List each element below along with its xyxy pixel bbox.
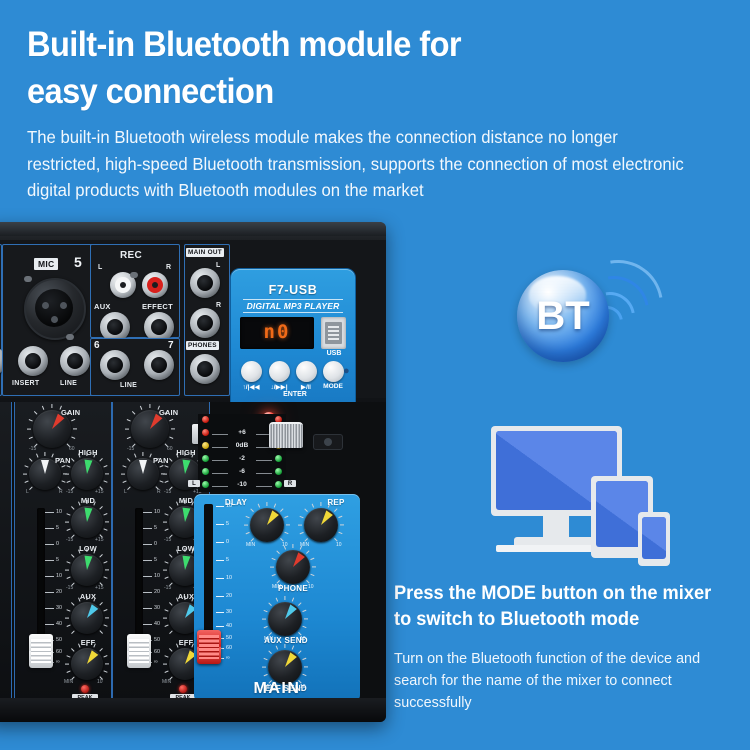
aux-min-label: MIN — [264, 636, 273, 642]
channel-5-number: 5 — [74, 254, 82, 270]
meter-scale-label: -6 — [198, 468, 286, 475]
aux-label: AUX — [94, 302, 111, 311]
rec-right-label: R — [166, 264, 171, 271]
gain-label: GAIN — [61, 408, 101, 417]
main-fader-cap[interactable] — [197, 630, 221, 664]
panel-screw — [130, 272, 138, 278]
high-eq-label: HIGH — [67, 448, 109, 457]
low-eq-knob[interactable] — [71, 554, 103, 586]
next-button-label: ↓/▶▶| — [264, 383, 294, 391]
eff-send-knob[interactable] — [71, 648, 103, 680]
peak-led — [81, 685, 89, 693]
channel-strip: GAIN -15 60 PAN L R HIGH -15 +15 — [14, 402, 112, 702]
line-label: LINE — [60, 380, 77, 387]
mid-eq-knob[interactable] — [71, 506, 103, 538]
pan-left-label: L — [124, 489, 127, 495]
line-7-number: 7 — [168, 340, 174, 351]
meter-row: -2 — [198, 455, 286, 466]
effect-label: EFFECT — [142, 302, 173, 311]
phone-min-label: MIN — [272, 584, 281, 590]
meter-led-right — [275, 455, 282, 462]
meter-right-label: R — [284, 480, 296, 487]
gain-min-label: -15 — [29, 446, 36, 452]
repeat-knob[interactable] — [304, 508, 338, 542]
line-67-label: LINE — [120, 382, 137, 389]
meter-led-left — [202, 416, 209, 423]
aux-send-label: AUX — [0, 618, 5, 627]
eq-max-label: +15 — [95, 585, 103, 591]
mixer-bottom-edge — [0, 698, 386, 722]
mp3-subtitle-label: DIGITAL MP3 PLAYER — [243, 299, 343, 313]
audio-mixer-product: 4 MIC 5 INSERT LINE REC L R — [0, 222, 386, 722]
mid-eq-label: MID — [0, 522, 5, 531]
eq-max-label: +15 — [95, 537, 103, 543]
page-title: Built-in Bluetooth module for easy conne… — [27, 22, 585, 116]
pan-right-label: R — [59, 489, 63, 495]
gain-label: GAIN — [159, 408, 199, 417]
main-out-left-jack[interactable] — [190, 268, 220, 298]
eff-send-label: EFF — [0, 666, 5, 675]
main-out-r-label: R — [216, 302, 221, 309]
phone-screen — [642, 517, 666, 559]
mic-label: MIC — [34, 258, 58, 270]
eff-send-label: EFF — [67, 638, 109, 647]
play-pause-button[interactable] — [296, 361, 317, 382]
mp3-player-module: F7-USB DIGITAL MP3 PLAYER n0 USB ↑/|◀◀ ↓… — [230, 268, 356, 410]
main-out-right-jack[interactable] — [190, 308, 220, 338]
mp3-display-value: n0 — [240, 321, 314, 343]
connector-panel: 4 MIC 5 INSERT LINE REC L R — [0, 240, 386, 398]
eq-min-label: -15 — [164, 585, 171, 591]
gain-min-label: -15 — [127, 446, 134, 452]
aux-send-label: AUX — [67, 592, 109, 601]
bluetooth-badge-label: BT — [517, 270, 609, 362]
insert-jack[interactable] — [18, 346, 48, 376]
eq-min-label: -15 — [164, 537, 171, 543]
promo-image: Built-in Bluetooth module for easy conne… — [0, 0, 750, 750]
meter-row: -10 — [198, 481, 286, 492]
prev-button[interactable] — [241, 361, 262, 382]
phones-label: PHONES — [186, 341, 219, 350]
send-min-label: MIN — [162, 679, 171, 685]
phone-max-label: 10 — [308, 584, 314, 590]
main-label: MAIN — [194, 680, 360, 698]
low-eq-label: LOW — [67, 544, 109, 553]
bluetooth-indicator-icon: ● — [343, 365, 350, 377]
meter-led-right — [275, 468, 282, 475]
eq-min-label: -15 — [164, 489, 171, 495]
high-eq-knob[interactable] — [71, 458, 103, 490]
xlr-mic-input[interactable] — [24, 278, 86, 340]
xlr-screw — [66, 334, 74, 340]
send-max-label: 10 — [97, 679, 103, 685]
channel-strip: HIGH MID LOW AUX EFF — [0, 402, 12, 702]
main-out-label: MAIN OUT — [186, 248, 224, 257]
meter-scale-label: -10 — [198, 481, 286, 488]
eq-max-label: +15 — [95, 489, 103, 495]
prev-button-label: ↑/|◀◀ — [236, 383, 266, 391]
delay-knob[interactable] — [250, 508, 284, 542]
low-eq-label: LOW — [0, 570, 5, 579]
title-line-2: easy connection — [27, 69, 585, 116]
mode-button[interactable] — [323, 361, 344, 382]
eq-min-label: -15 — [66, 489, 73, 495]
effects-master-panel: DLAY MIN 10 REP MIN 10 PHONE MIN 10 — [194, 494, 360, 702]
mode-button-label: MODE — [318, 383, 348, 390]
rec-label: REC — [120, 250, 142, 261]
enter-label: ENTER — [265, 391, 325, 398]
aux-send-knob[interactable] — [71, 602, 103, 634]
devices-illustration — [486, 424, 676, 576]
aux-send-master-knob[interactable] — [268, 602, 302, 636]
phones-jack[interactable] — [190, 354, 220, 384]
next-button[interactable] — [269, 361, 290, 382]
mid-eq-label: MID — [67, 496, 109, 505]
channel-5-line-jack[interactable] — [60, 346, 90, 376]
line-7-jack[interactable] — [144, 350, 174, 380]
rec-left-label: L — [98, 264, 103, 271]
play-pause-button-label: ▶/‖ — [291, 383, 321, 391]
mp3-display: n0 — [240, 317, 314, 349]
meter-left-label: L — [188, 480, 200, 487]
callout-body: Turn on the Bluetooth function of the de… — [394, 648, 725, 715]
send-min-label: MIN — [64, 679, 73, 685]
top-panel-jack[interactable] — [313, 434, 343, 450]
bluetooth-badge: BT — [505, 248, 695, 378]
pan-left-label: L — [26, 489, 29, 495]
repeat-max-label: 10 — [336, 542, 342, 548]
phone-knob[interactable] — [276, 550, 310, 584]
title-line-1: Built-in Bluetooth module for — [27, 22, 585, 69]
channel-fader-cap[interactable] — [29, 634, 53, 668]
aux-max-label: 10 — [300, 636, 306, 642]
rec-rca-right — [142, 272, 168, 298]
pan-right-label: R — [157, 489, 161, 495]
meter-row: -6 — [198, 468, 286, 479]
channel-fader-cap[interactable] — [127, 634, 151, 668]
insert-label: INSERT — [12, 380, 39, 387]
page-subtitle: The built-in Bluetooth wireless module m… — [27, 124, 686, 204]
main-out-l-label: L — [216, 262, 221, 269]
mixer-top-edge — [0, 222, 386, 236]
eff-send-master-knob[interactable] — [268, 650, 302, 684]
usb-port[interactable] — [321, 317, 346, 349]
callout-heading: Press the MODE button on the mixer to sw… — [394, 581, 720, 633]
mp3-model-label: F7-USB — [231, 283, 355, 297]
knurled-knob[interactable] — [269, 422, 303, 448]
peak-led — [179, 685, 187, 693]
eq-min-label: -15 — [66, 585, 73, 591]
line-6-jack[interactable] — [100, 350, 130, 380]
eq-min-label: -15 — [66, 537, 73, 543]
high-eq-label: HIGH — [0, 474, 5, 483]
meter-scale-label: -2 — [198, 455, 286, 462]
xlr-screw — [24, 276, 32, 282]
line-6-number: 6 — [94, 340, 100, 351]
meter-led-right — [275, 481, 282, 488]
delay-min-label: MIN — [246, 542, 255, 548]
usb-label: USB — [319, 350, 349, 357]
